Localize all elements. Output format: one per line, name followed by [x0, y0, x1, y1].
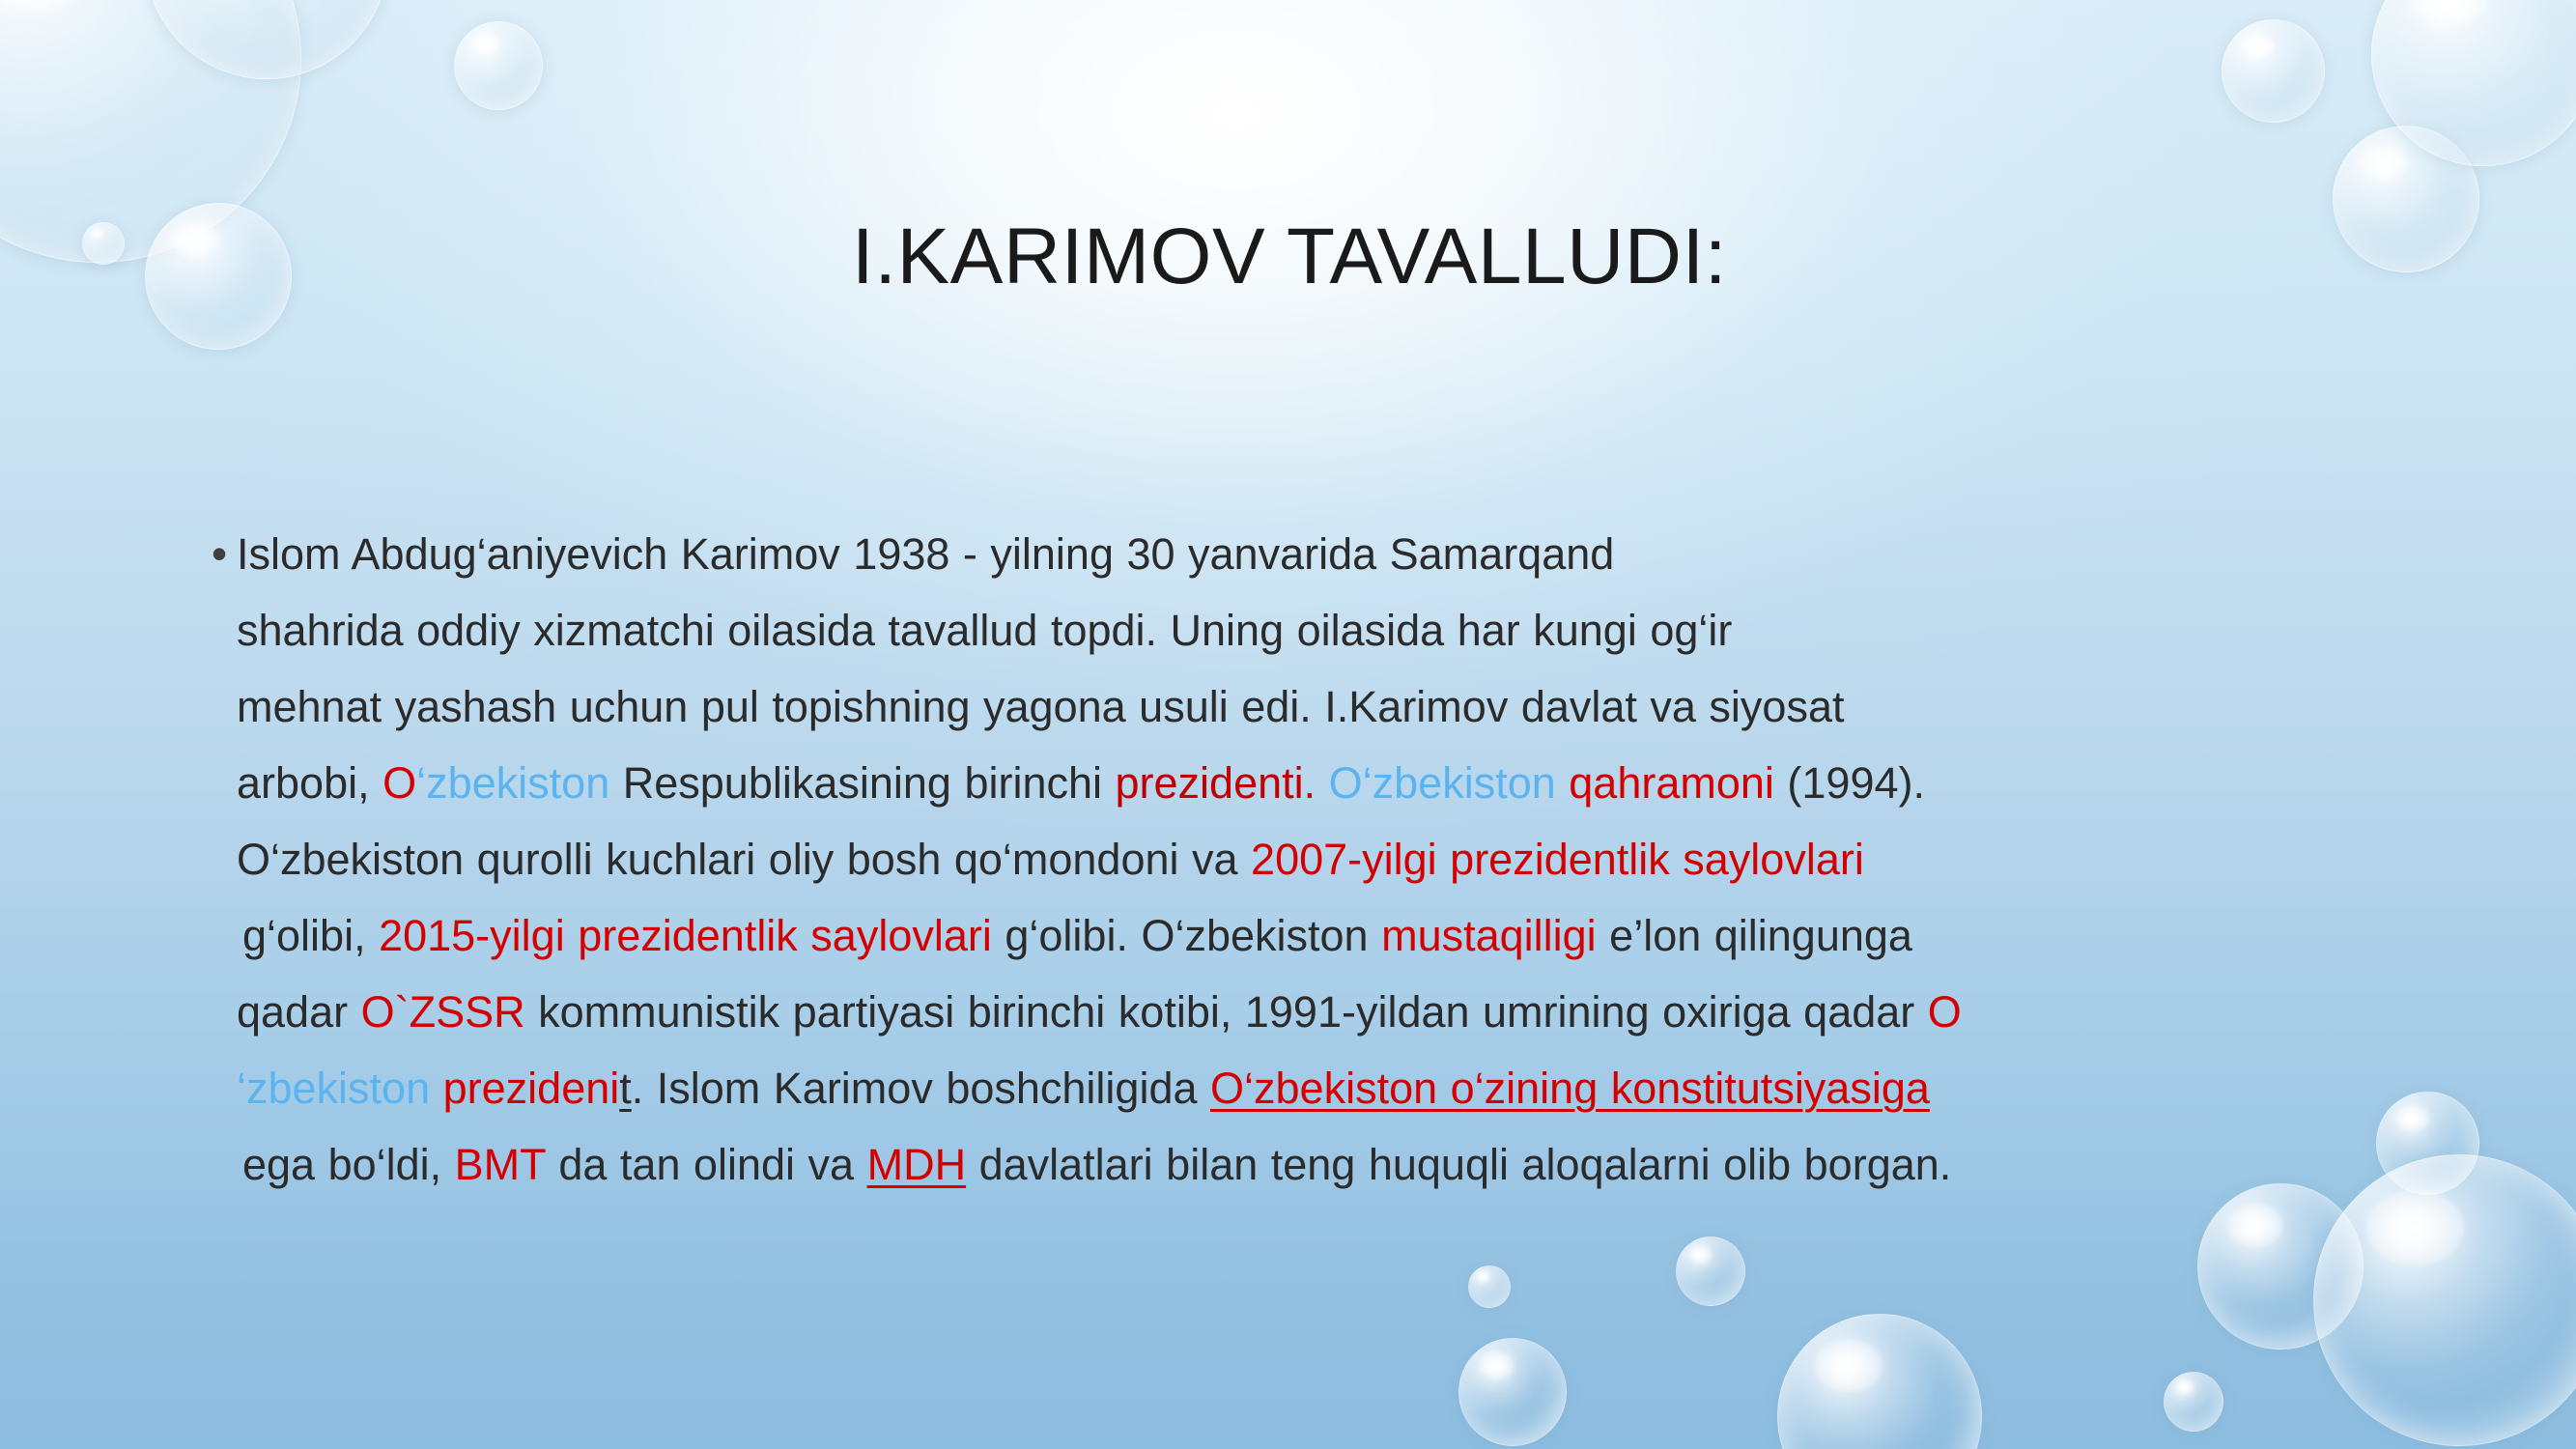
text-run: prezidenti. [1116, 758, 1316, 808]
text-run: Islom Abdug‘aniyevich Karimov 1938 - yil… [237, 529, 1614, 579]
text-run: t [619, 1064, 632, 1113]
text-run: g‘olibi, [242, 911, 379, 960]
bubble-decoration-icon [0, 0, 301, 263]
body-line-line8: ‘zbekiston prezidenit. Islom Karimov bos… [237, 1050, 2449, 1126]
bubble-decoration-icon [454, 21, 543, 110]
text-run: O‘zbekiston qurolli kuchlari oliy bosh q… [237, 835, 1251, 884]
text-run: qadar [237, 987, 361, 1037]
text-run: 2007-yilgi prezidentlik saylovlari [1251, 835, 1864, 884]
bubble-decoration-icon [2197, 1183, 2364, 1350]
text-run: ‘zbekiston [237, 1064, 430, 1113]
text-run: kommunistik partiyasi birinchi kotibi, 1… [525, 987, 1928, 1037]
bubble-decoration-icon [1777, 1314, 1982, 1449]
bubble-decoration-icon [82, 222, 125, 265]
text-run: ‘zbekiston [416, 758, 609, 808]
text-run: ega bo‘ldi, [242, 1140, 455, 1189]
text-run: MDH [867, 1140, 966, 1189]
bubble-decoration-icon [2164, 1372, 2223, 1432]
text-run: (1994). [1774, 758, 1925, 808]
text-run: qahramoni [1569, 758, 1774, 808]
body-line-line6: g‘olibi, 2015-yilgi prezidentlik saylovl… [237, 897, 2449, 974]
bubble-decoration-icon [2333, 126, 2479, 272]
text-run: O [382, 758, 416, 808]
text-run: O‘zbekiston o‘zining konstitutsiyasiga [1210, 1064, 1930, 1113]
text-run: . Islom Karimov boshchiligida [632, 1064, 1210, 1113]
text-run: O‘zbekiston [1329, 758, 1556, 808]
body-line-line1: Islom Abdug‘aniyevich Karimov 1938 - yil… [237, 516, 2449, 592]
bubble-decoration-icon [1458, 1338, 1567, 1446]
presentation-slide: I.KARIMOV TAVALLUDI: • Islom Abdug‘aniye… [0, 0, 2576, 1449]
body-line-line4: arbobi, O‘zbekiston Respublikasining bir… [237, 745, 2449, 821]
text-run: shahrida oddiy xizmatchi oilasida tavall… [237, 606, 1732, 655]
text-run: O`ZSSR [361, 987, 525, 1037]
text-run: arbobi, [237, 758, 382, 808]
body-line-line9: ega bo‘ldi, BMT da tan olindi va MDH dav… [237, 1126, 2449, 1203]
bullet-text-content: Islom Abdug‘aniyevich Karimov 1938 - yil… [237, 516, 2449, 1203]
bubble-decoration-icon [145, 0, 388, 79]
text-run: O [1928, 987, 1962, 1037]
bubble-decoration-icon [1676, 1236, 1745, 1306]
text-run: mustaqilligi [1381, 911, 1597, 960]
text-run: prezideni [443, 1064, 620, 1113]
text-run: mehnat yashash uchun pul topishning yago… [237, 682, 1845, 731]
bubble-decoration-icon [1468, 1265, 1511, 1308]
slide-title: I.KARIMOV TAVALLUDI: [261, 217, 2318, 297]
text-run: Respublikasining birinchi [609, 758, 1115, 808]
text-run: e’lon qilingunga [1597, 911, 1912, 960]
text-run: davlatlari bilan teng huquqli aloqalarni… [966, 1140, 1951, 1189]
text-run: BMT [455, 1140, 546, 1189]
text-run: 2015-yilgi prezidentlik saylovlari [379, 911, 992, 960]
body-line-line5: O‘zbekiston qurolli kuchlari oliy bosh q… [237, 821, 2449, 897]
text-run: da tan olindi va [546, 1140, 867, 1189]
body-line-line2: shahrida oddiy xizmatchi oilasida tavall… [237, 592, 2449, 668]
bubble-decoration-icon [2371, 0, 2576, 166]
bullet-point-icon: • [198, 516, 237, 592]
text-run [1556, 758, 1570, 808]
body-line-line7: qadar O`ZSSR kommunistik partiyasi birin… [237, 974, 2449, 1050]
bubble-decoration-icon [2222, 19, 2325, 123]
body-line-line3: mehnat yashash uchun pul topishning yago… [237, 668, 2449, 745]
text-run [430, 1064, 443, 1113]
text-run: g‘olibi. O‘zbekiston [992, 911, 1381, 960]
slide-body: • Islom Abdug‘aniyevich Karimov 1938 - y… [198, 516, 2449, 1203]
text-run [1316, 758, 1329, 808]
bullet-list-item: • Islom Abdug‘aniyevich Karimov 1938 - y… [198, 516, 2449, 1203]
